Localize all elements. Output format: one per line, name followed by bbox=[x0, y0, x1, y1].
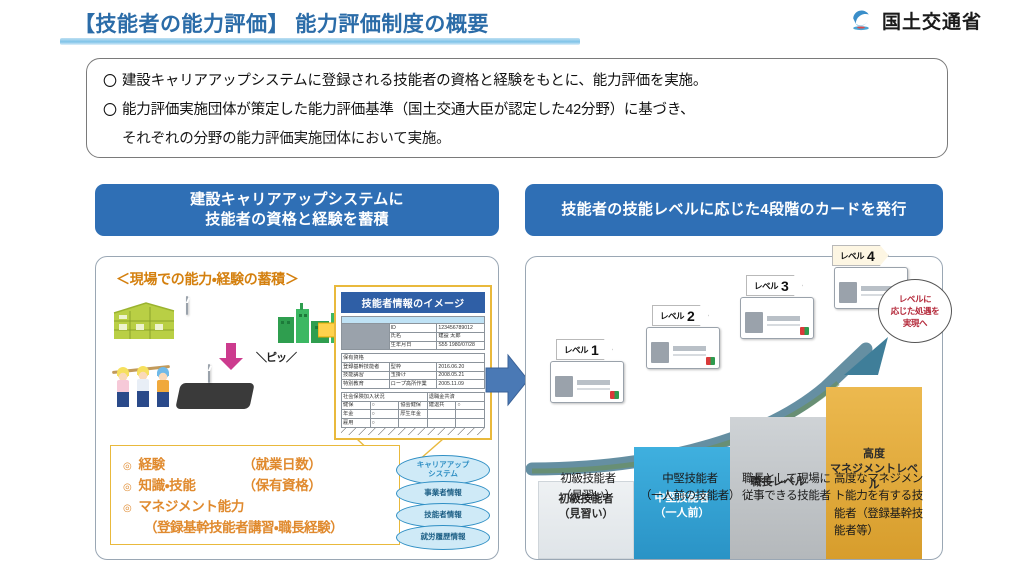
caption-level-4: 高度なマネジメント能力を有する技能者（登録基幹技能者等） bbox=[834, 471, 930, 540]
database-disc-1-label: 事業者情報 bbox=[424, 489, 462, 498]
evaluation-criteria-box: ◎ 経験 （就業日数） ◎ 知識・技能 （保有資格） ◎ マネジメント能力 （登… bbox=[110, 445, 400, 545]
criteria-item-1-value: （就業日数） bbox=[242, 455, 321, 476]
card-logo-swoosh-icon bbox=[208, 366, 210, 371]
info-card-qualifications-table: 保有資格 登録基幹技能者 型枠 2016.06.20 技能講習 玉掛け 2008… bbox=[341, 353, 485, 389]
level-4-step-line1: 高度 bbox=[826, 447, 922, 462]
summary-bullet-2: 〇 能力評価実施団体が策定した能力評価基準（国土交通大臣が認定した42分野）に基… bbox=[103, 100, 947, 121]
caption-level-2-line1: 中堅技能者 bbox=[638, 471, 742, 488]
retirement-header: 退職金共済 bbox=[427, 393, 484, 402]
criteria-item-1: ◎ 経験 （就業日数） bbox=[123, 455, 399, 476]
card-photo bbox=[555, 376, 572, 397]
ministry-name: 国土交通省 bbox=[882, 7, 982, 34]
level-1-tag-label: レベル bbox=[564, 344, 588, 356]
criteria-bullet-icon: ◎ bbox=[123, 459, 131, 475]
summary-box: 〇 建設キャリアアップシステムに登録される技能者の資格と経験をもとに、能力評価を… bbox=[86, 58, 948, 158]
qual-label: 技能講習 bbox=[342, 371, 390, 380]
card-chip-icon bbox=[610, 391, 619, 399]
info-card-blue-strip bbox=[342, 317, 485, 324]
career-up-card-bottom bbox=[208, 364, 210, 383]
card-photo bbox=[745, 312, 762, 333]
caption-level-3: 職長として現場に従事できる技能者 bbox=[742, 471, 834, 540]
info-row-label: ID bbox=[389, 324, 437, 333]
qual-date: 2008.05.21 bbox=[437, 371, 485, 380]
criteria-item-2-key: 知識・技能 bbox=[138, 476, 242, 497]
level-4-tag-number: 4 bbox=[867, 248, 875, 264]
level-3-tag-label: レベル bbox=[754, 280, 778, 292]
qual-date: 2005.11.09 bbox=[437, 380, 485, 389]
card-photo bbox=[651, 342, 668, 363]
tap-sound-effect-label: ＼ピッ／ bbox=[256, 349, 296, 365]
site-accumulation-heading: ＜現場での能力・経験の蓄積＞ bbox=[116, 269, 299, 289]
qual-kind: 型枠 bbox=[389, 362, 437, 371]
info-card-photo bbox=[342, 324, 390, 350]
insurance-kind: 協会健保 bbox=[399, 401, 428, 410]
insurance-label: 年金 bbox=[342, 410, 371, 419]
card-name-field bbox=[767, 316, 800, 320]
qual-date: 2016.06.20 bbox=[437, 362, 485, 371]
summary-bullet-1-text: 建設キャリアアップシステムに登録される技能者の資格と経験をもとに、能力評価を実施… bbox=[122, 71, 707, 92]
retirement-check bbox=[456, 410, 485, 419]
info-card-identity-table: ID 123456789012 氏名 建設 太郎 生年月日 S55 1980/0… bbox=[341, 316, 485, 350]
insurance-kind bbox=[399, 419, 428, 428]
criteria-item-1-key: 経験 bbox=[138, 455, 242, 476]
card-detail-lines bbox=[767, 324, 800, 326]
card-photo bbox=[839, 282, 856, 303]
criteria-item-3: ◎ マネジメント能力 bbox=[123, 497, 399, 518]
career-up-system-database: キャリアアップ システム 事業者情報 技能者情報 就労履歴情報 bbox=[396, 455, 490, 555]
card-logo-swoosh-icon bbox=[649, 330, 666, 338]
retirement-kind: 建退共 bbox=[427, 401, 456, 410]
insurance-label: 雇用 bbox=[342, 419, 371, 428]
caption-level-2: 中堅技能者 （一人前の技能者） bbox=[638, 471, 742, 540]
panel-accumulation: ＜現場での能力・経験の蓄積＞ bbox=[95, 256, 499, 560]
summary-bullet-1: 〇 建設キャリアアップシステムに登録される技能者の資格と経験をもとに、能力評価を… bbox=[103, 71, 947, 92]
callout-line3: 実現へ bbox=[891, 317, 940, 329]
retirement-kind bbox=[427, 419, 456, 428]
insurance-check: ○ bbox=[370, 401, 399, 410]
info-row-value: 建設 太郎 bbox=[437, 332, 485, 341]
level-4-tag-label: レベル bbox=[840, 250, 864, 262]
retirement-check bbox=[456, 419, 485, 428]
insurance-check: ○ bbox=[370, 419, 399, 428]
ministry-branding: 国土交通省 bbox=[848, 7, 982, 34]
info-card-insurance-table: 社会保険加入状況 退職金共済 健保 ○ 協会健保 建退共 ○ 年金 ○ 厚生年金… bbox=[341, 392, 485, 428]
qual-label: 特別教育 bbox=[342, 380, 390, 389]
criteria-item-3-sub: （登録基幹技能者講習・職長経験） bbox=[123, 518, 399, 538]
callout-line1: レベルに bbox=[891, 293, 940, 305]
info-row-label: 氏名 bbox=[389, 332, 437, 341]
card-chip-icon bbox=[706, 357, 715, 365]
level-3-tag: レベル 3 bbox=[746, 275, 803, 296]
card-reader-device bbox=[175, 383, 255, 409]
info-row-value: S55 1980/07/28 bbox=[437, 341, 485, 350]
page-title: 【技能者の能力評価】 能力評価制度の概要 bbox=[74, 8, 489, 38]
torn-paper-edge bbox=[341, 428, 485, 435]
level-2-tag-label: レベル bbox=[660, 310, 684, 322]
title-underline-rule bbox=[60, 38, 580, 45]
caption-level-1-line2: （見習い） bbox=[538, 488, 638, 505]
skilled-worker-info-card: 技能者情報のイメージ ID 123456789012 氏名 建設 太郎 生年月日… bbox=[334, 285, 492, 440]
panel-flow-arrow-icon bbox=[484, 352, 530, 408]
level-captions: 初級技能者 （見習い） 中堅技能者 （一人前の技能者） 職長として現場に従事でき… bbox=[538, 471, 932, 540]
tap-down-arrow-icon bbox=[218, 343, 244, 371]
insurance-kind: 厚生年金 bbox=[399, 410, 428, 419]
caption-level-1: 初級技能者 （見習い） bbox=[538, 471, 638, 540]
treatment-callout: レベルに 応じた処遇を 実現へ bbox=[878, 279, 952, 343]
criteria-item-2: ◎ 知識・技能 （保有資格） bbox=[123, 476, 399, 497]
level-1-tag-number: 1 bbox=[591, 342, 599, 358]
card-logo-swoosh-icon bbox=[837, 270, 854, 278]
banner-right: 技能者の技能レベルに応じた4段階のカードを発行 bbox=[525, 184, 943, 236]
banner-left-line2: 技能者の資格と経験を蓄積 bbox=[190, 210, 404, 230]
retirement-kind bbox=[427, 410, 456, 419]
qual-label: 登録基幹技能者 bbox=[342, 362, 390, 371]
insurance-check: ○ bbox=[370, 410, 399, 419]
caption-level-2-line2: （一人前の技能者） bbox=[638, 488, 742, 505]
info-row-value: 123456789012 bbox=[437, 324, 485, 333]
card-detail-lines bbox=[673, 354, 706, 356]
qual-kind: ロープ高所作業 bbox=[389, 380, 437, 389]
banner-left: 建設キャリアアップシステムに 技能者の資格と経験を蓄積 bbox=[95, 184, 499, 236]
level-2-tag: レベル 2 bbox=[652, 305, 709, 326]
caption-level-1-line1: 初級技能者 bbox=[538, 471, 638, 488]
level-1-card bbox=[550, 361, 624, 403]
level-3-tag-number: 3 bbox=[781, 278, 789, 294]
insurance-header: 社会保険加入状況 bbox=[342, 393, 428, 402]
qualifications-header: 保有資格 bbox=[342, 354, 485, 363]
criteria-item-3-key: マネジメント能力 bbox=[138, 497, 244, 518]
level-2-card bbox=[646, 327, 720, 369]
banner-left-line1: 建設キャリアアップシステムに bbox=[190, 190, 404, 210]
bullet-circle-icon: 〇 bbox=[103, 71, 117, 91]
card-detail-lines bbox=[577, 388, 610, 390]
career-up-card-top bbox=[186, 296, 188, 315]
panel-card-levels: 初級技能者 （見習い） レベル 1 中堅技能者 （一人前） レベル bbox=[525, 256, 943, 560]
criteria-bullet-icon: ◎ bbox=[123, 480, 131, 496]
mlit-wave-logo-icon bbox=[848, 8, 874, 34]
level-1-tag: レベル 1 bbox=[556, 339, 613, 360]
database-title-line2: システム bbox=[417, 470, 470, 479]
database-disc-3-label: 就労履歴情報 bbox=[421, 533, 466, 542]
card-chip-icon bbox=[800, 327, 809, 335]
card-logo-swoosh-icon bbox=[743, 300, 760, 308]
summary-bullet-2-continuation: それぞれの分野の能力評価実施団体において実施。 bbox=[103, 129, 947, 150]
database-disc-2-label: 技能者情報 bbox=[424, 511, 462, 520]
database-disc-3: 就労履歴情報 bbox=[396, 525, 490, 550]
criteria-bullet-icon: ◎ bbox=[123, 501, 131, 517]
retirement-check: ○ bbox=[456, 401, 485, 410]
info-row-label: 生年月日 bbox=[389, 341, 437, 350]
criteria-item-2-value: （保有資格） bbox=[242, 476, 321, 497]
callout-line2: 応じた処遇を bbox=[891, 305, 940, 317]
insurance-label: 健保 bbox=[342, 401, 371, 410]
bullet-circle-icon: 〇 bbox=[103, 100, 117, 120]
card-logo-swoosh-icon bbox=[553, 364, 570, 372]
card-logo-swoosh-icon bbox=[186, 298, 188, 303]
qual-kind: 玉掛け bbox=[389, 371, 437, 380]
card-name-field bbox=[577, 380, 610, 384]
summary-bullet-2-text: 能力評価実施団体が策定した能力評価基準（国土交通大臣が認定した42分野）に基づき… bbox=[122, 100, 694, 121]
level-2-tag-number: 2 bbox=[687, 308, 695, 324]
info-card-title: 技能者情報のイメージ bbox=[341, 292, 485, 313]
card-name-field bbox=[673, 346, 706, 350]
level-4-tag: レベル 4 bbox=[832, 245, 889, 266]
level-3-card bbox=[740, 297, 814, 339]
building-scaffold-icon bbox=[110, 299, 180, 343]
